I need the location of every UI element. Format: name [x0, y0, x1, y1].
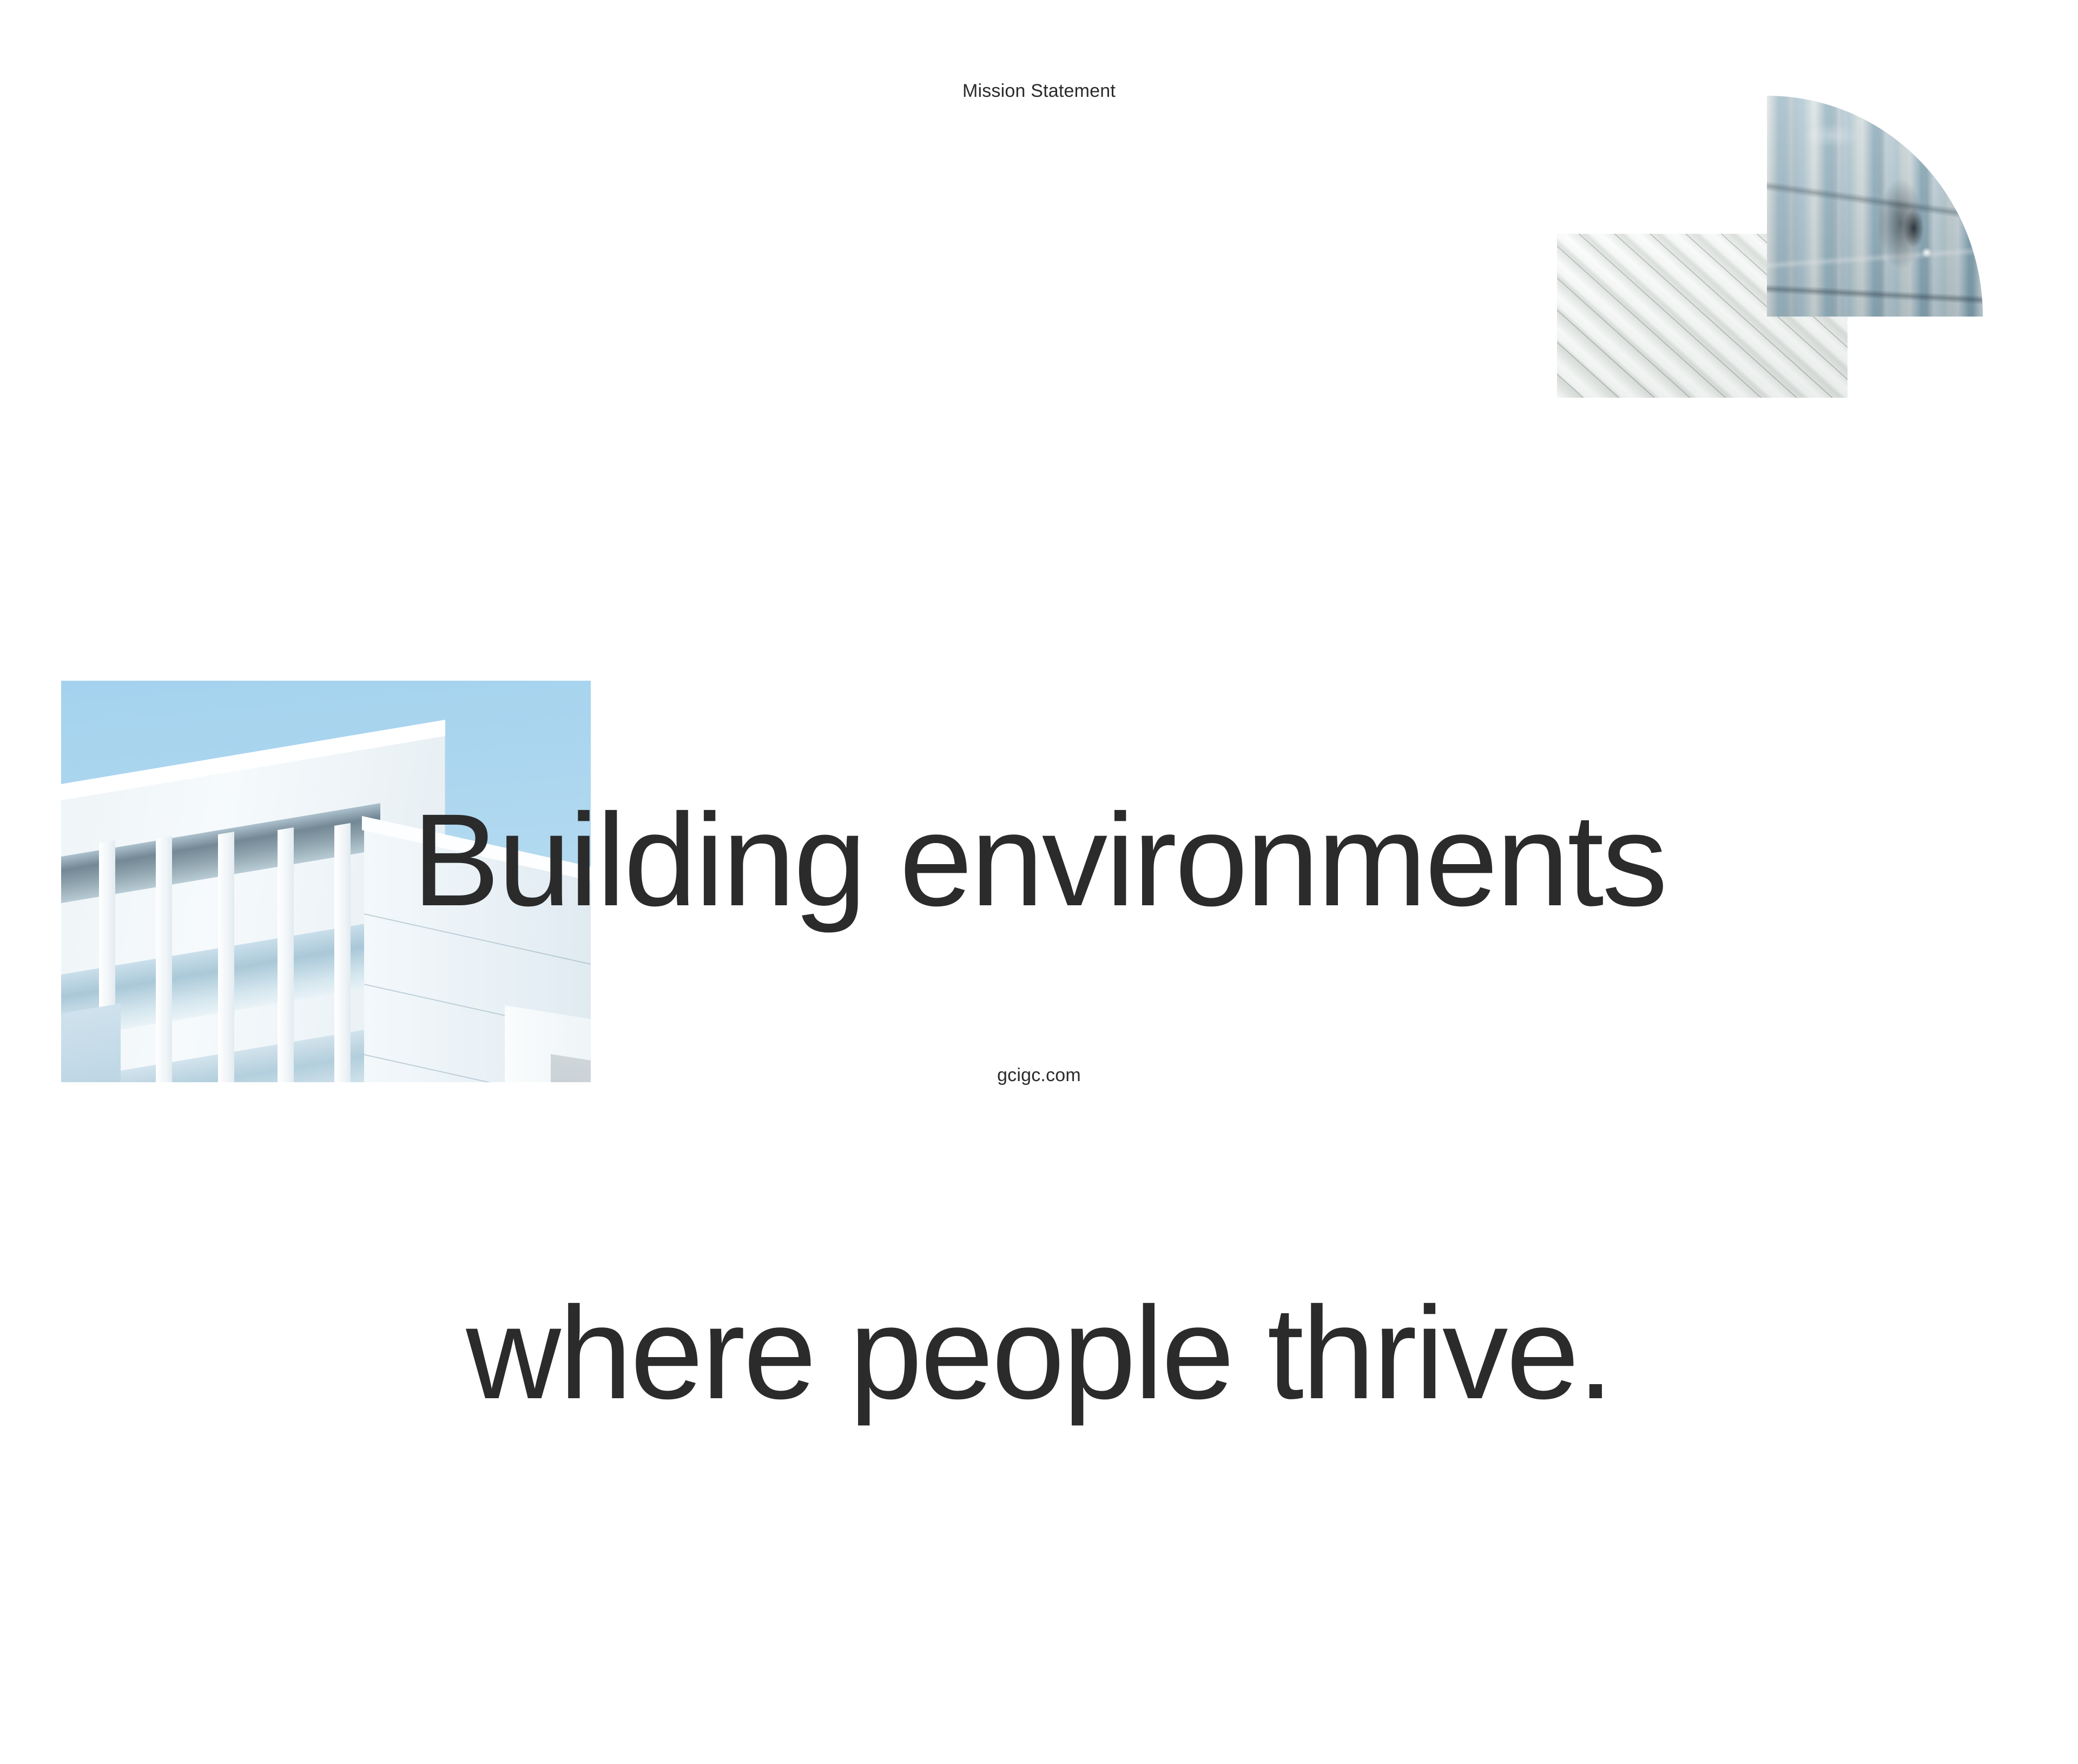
- headline: Building environments where people thriv…: [0, 449, 2078, 1764]
- headline-line-2: where people thrive.: [0, 1271, 2078, 1436]
- page-eyebrow-label: Mission Statement: [0, 80, 2078, 102]
- footer-website: gcigc.com: [0, 1065, 2078, 1086]
- corrugated-metal-arc: [1767, 96, 1983, 317]
- slide-canvas: Mission Statement Building enviro: [0, 0, 2078, 1169]
- arc-metal-weathering: [1767, 96, 1983, 317]
- headline-line-1: Building environments: [0, 778, 2078, 943]
